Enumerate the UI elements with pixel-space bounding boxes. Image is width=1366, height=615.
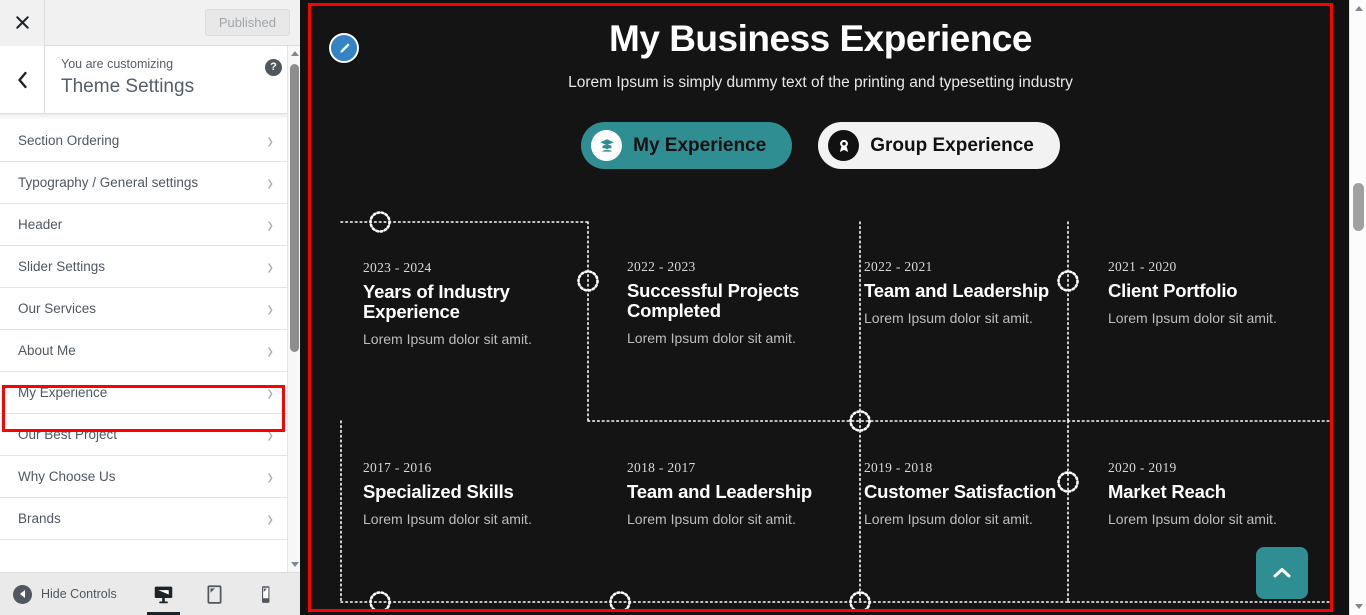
pencil-edit-icon: [337, 41, 352, 56]
chevron-right-icon: ›: [267, 129, 273, 152]
sidebar-item-slider-settings[interactable]: Slider Settings ›: [0, 246, 287, 288]
timeline-card: 2017 - 2016 Specialized Skills Lorem Ips…: [363, 460, 588, 527]
help-icon[interactable]: ?: [265, 59, 282, 76]
timeline-heading: Market Reach: [1108, 482, 1323, 502]
window-scroll-down-button[interactable]: [1350, 598, 1366, 615]
chevron-left-icon: [16, 71, 29, 89]
triangle-up-icon: [291, 51, 299, 56]
scrollbar-thumb[interactable]: [290, 64, 299, 352]
sidebar-item-label: Slider Settings: [18, 259, 267, 274]
window-scrollbar-thumb[interactable]: [1353, 183, 1364, 231]
timeline-heading: Team and Leadership: [864, 281, 1089, 301]
publish-area: Published: [45, 9, 300, 36]
sidebar-item-our-best-project[interactable]: Our Best Project ›: [0, 414, 287, 456]
mobile-icon: [255, 584, 276, 605]
chevron-right-icon: ›: [267, 507, 273, 530]
sidebar-item-our-services[interactable]: Our Services ›: [0, 288, 287, 330]
chevron-up-icon: [1270, 561, 1294, 585]
timeline-year: 2019 - 2018: [864, 460, 1089, 476]
desktop-icon: [153, 584, 174, 605]
customizer-header-text: You are customizing Theme Settings ?: [45, 46, 300, 113]
customizing-label: You are customizing: [61, 56, 286, 73]
sidebar-item-label: Header: [18, 217, 267, 232]
timeline-description: Lorem Ipsum dolor sit amit.: [627, 511, 817, 527]
award-medal-icon: [828, 130, 859, 161]
close-icon: [15, 15, 30, 30]
chevron-right-icon: ›: [267, 297, 273, 320]
customizer-app: Published You are customizing Theme Sett…: [0, 0, 1366, 615]
device-tablet-button[interactable]: [198, 573, 231, 615]
timeline-card: 2020 - 2019 Market Reach Lorem Ipsum dol…: [1108, 460, 1323, 527]
timeline-year: 2017 - 2016: [363, 460, 588, 476]
sidebar-item-label: My Experience: [18, 385, 267, 400]
sidebar-item-label: Section Ordering: [18, 133, 267, 148]
timeline-heading: Specialized Skills: [363, 482, 588, 502]
customizer-header: You are customizing Theme Settings ?: [0, 46, 300, 114]
triangle-up-icon: [1355, 6, 1363, 11]
sidebar-item-partial[interactable]: [0, 540, 287, 572]
hide-controls-button[interactable]: Hide Controls: [0, 585, 117, 604]
window-scrollbar[interactable]: [1349, 0, 1366, 615]
timeline-year: 2018 - 2017: [627, 460, 817, 476]
back-button[interactable]: [0, 46, 45, 114]
chevron-right-icon: ›: [267, 339, 273, 362]
chevron-right-icon: ›: [267, 255, 273, 278]
collapse-icon: [13, 585, 32, 604]
customizer-section-list: Section Ordering › Typography / General …: [0, 120, 287, 572]
timeline-description: Lorem Ipsum dolor sit amit.: [864, 511, 1089, 527]
timeline-card: 2021 - 2020 Client Portfolio Lorem Ipsum…: [1108, 259, 1323, 326]
tab-label: My Experience: [633, 135, 766, 157]
timeline-description: Lorem Ipsum dolor sit amit.: [363, 331, 588, 347]
edit-section-button[interactable]: [329, 33, 359, 63]
preview-area: My Business Experience Lorem Ipsum is si…: [300, 0, 1366, 615]
customizer-panel: Published You are customizing Theme Sett…: [0, 0, 300, 615]
customizer-footer: Hide Controls: [0, 572, 300, 615]
chevron-right-icon: ›: [267, 465, 273, 488]
timeline-description: Lorem Ipsum dolor sit amit.: [1108, 310, 1323, 326]
triangle-down-icon: [1355, 604, 1363, 609]
experience-tabs: My Experience Group Experience: [311, 122, 1330, 169]
timeline-heading: Client Portfolio: [1108, 281, 1323, 301]
customizer-topbar: Published: [0, 0, 300, 46]
sidebar-item-about-me[interactable]: About Me ›: [0, 330, 287, 372]
preview-content: My Business Experience Lorem Ipsum is si…: [311, 18, 1330, 612]
hide-controls-label: Hide Controls: [41, 587, 117, 601]
device-desktop-button[interactable]: [147, 573, 180, 615]
sidebar-item-label: Why Choose Us: [18, 469, 267, 484]
window-scroll-up-button[interactable]: [1350, 0, 1366, 17]
timeline-connectors: [311, 188, 1330, 612]
back-to-top-button[interactable]: [1256, 547, 1308, 599]
timeline-heading: Successful Projects Completed: [627, 281, 817, 321]
device-mobile-button[interactable]: [249, 573, 282, 615]
sidebar-item-header[interactable]: Header ›: [0, 204, 287, 246]
timeline-heading: Customer Satisfaction: [864, 482, 1089, 502]
panel-title: Theme Settings: [61, 74, 286, 100]
section-title: My Business Experience: [311, 18, 1330, 60]
tab-my-experience[interactable]: My Experience: [581, 122, 792, 169]
sidebar-item-typography[interactable]: Typography / General settings ›: [0, 162, 287, 204]
timeline-year: 2022 - 2023: [627, 259, 817, 275]
timeline-description: Lorem Ipsum dolor sit amit.: [1108, 511, 1323, 527]
tab-label: Group Experience: [870, 135, 1034, 157]
publish-button[interactable]: Published: [205, 9, 290, 36]
sidebar-item-label: Typography / General settings: [18, 175, 267, 190]
sidebar-item-why-choose-us[interactable]: Why Choose Us ›: [0, 456, 287, 498]
sidebar-item-label: Our Services: [18, 301, 267, 316]
tab-group-experience[interactable]: Group Experience: [818, 122, 1060, 169]
timeline-year: 2023 - 2024: [363, 260, 588, 276]
timeline-year: 2020 - 2019: [1108, 460, 1323, 476]
chevron-right-icon: ›: [267, 213, 273, 236]
timeline-card: 2019 - 2018 Customer Satisfaction Lorem …: [864, 460, 1089, 527]
triangle-down-icon: [291, 562, 299, 567]
timeline-year: 2022 - 2021: [864, 259, 1089, 275]
graduate-person-icon: [591, 130, 622, 161]
sidebar-item-label: Brands: [18, 511, 267, 526]
sidebar-item-brands[interactable]: Brands ›: [0, 498, 287, 540]
sidebar-item-section-ordering[interactable]: Section Ordering ›: [0, 120, 287, 162]
section-subtitle: Lorem Ipsum is simply dummy text of the …: [311, 74, 1330, 92]
tablet-icon: [204, 584, 225, 605]
timeline-year: 2021 - 2020: [1108, 259, 1323, 275]
chevron-right-icon: ›: [267, 423, 273, 446]
timeline-card: 2018 - 2017 Team and Leadership Lorem Ip…: [627, 460, 817, 527]
sidebar-item-my-experience[interactable]: My Experience ›: [0, 372, 287, 414]
timeline-description: Lorem Ipsum dolor sit amit.: [627, 330, 817, 346]
sidebar-scrollbar[interactable]: [287, 46, 300, 572]
chevron-right-icon: ›: [267, 171, 273, 194]
timeline-card: 2022 - 2021 Team and Leadership Lorem Ip…: [864, 259, 1089, 326]
sidebar-item-label: About Me: [18, 343, 267, 358]
timeline-description: Lorem Ipsum dolor sit amit.: [864, 310, 1089, 326]
timeline-card: 2022 - 2023 Successful Projects Complete…: [627, 259, 817, 346]
sidebar-item-label: Our Best Project: [18, 427, 267, 442]
timeline-card: 2023 - 2024 Years of Industry Experience…: [363, 260, 588, 347]
timeline-heading: Years of Industry Experience: [363, 282, 588, 322]
device-preview-switcher: [147, 573, 282, 615]
experience-timeline: 2023 - 2024 Years of Industry Experience…: [311, 188, 1330, 612]
timeline-heading: Team and Leadership: [627, 482, 817, 502]
close-button[interactable]: [0, 0, 45, 46]
timeline-description: Lorem Ipsum dolor sit amit.: [363, 511, 588, 527]
chevron-right-icon: ›: [267, 381, 273, 404]
preview-frame: My Business Experience Lorem Ipsum is si…: [308, 3, 1333, 612]
